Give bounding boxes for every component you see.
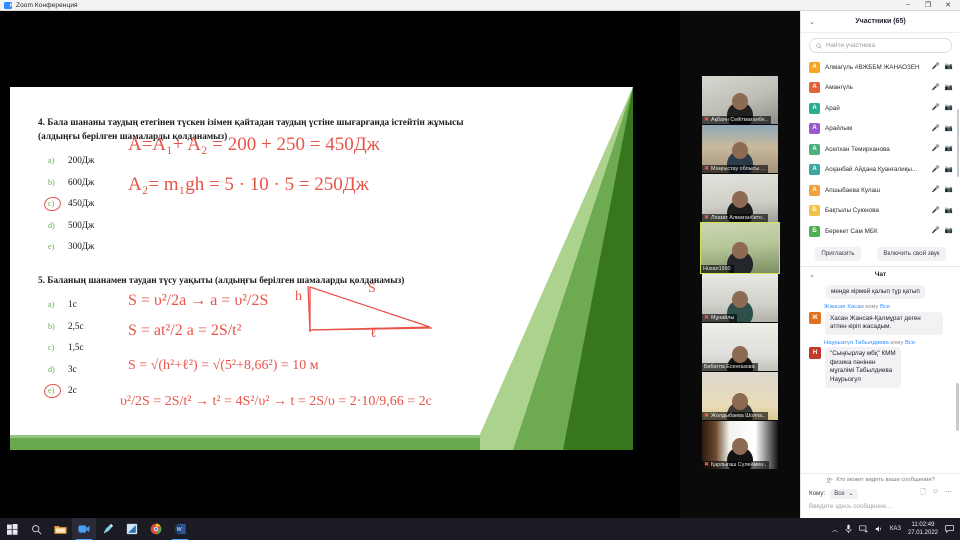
chat-to-label: Кому: — [809, 490, 825, 497]
chat-input[interactable]: Введите здесь сообщение... — [801, 501, 960, 518]
video-tile-label: Husan1990 — [701, 265, 734, 274]
participant-row[interactable]: А Апшыбаева Кулаш 🎤📷 — [801, 180, 960, 201]
participant-name: Апшыбаева Кулаш — [825, 187, 927, 194]
window-title: Zoom Конференция — [16, 2, 78, 9]
window-controls: − ❐ ✕ — [898, 0, 960, 11]
participant-row[interactable]: А Арайлым 🎤📷 — [801, 119, 960, 140]
video-tile[interactable]: ✖Ләззат Алмағанбето.. — [702, 174, 778, 222]
video-off-icon[interactable]: 📷 — [945, 105, 953, 112]
question-5-title: 5. Баланың шанамен таудан түсу уақыты (а… — [38, 275, 478, 289]
participant-name: Арайлым — [825, 125, 927, 132]
to-target: Все — [905, 340, 915, 346]
participant-name: Аселхан Темирханова — [825, 146, 927, 153]
emoji-icon[interactable]: ☺ — [932, 488, 939, 499]
option-text: 600Дж — [68, 172, 94, 194]
chat-message: менде кірмей қалып тұр қатып — [826, 285, 952, 300]
video-tile-label: ✖Мұнайлы — [702, 314, 737, 323]
svg-text:W: W — [176, 527, 181, 533]
video-tile-label: ✖Қарлығаш Сүлеймен.. — [702, 461, 769, 470]
mic-off-icon[interactable]: 🎤 — [932, 146, 940, 153]
slide-band — [10, 438, 480, 450]
avatar: А — [809, 82, 820, 93]
video-off-icon[interactable]: 📷 — [945, 85, 953, 92]
search-icon — [31, 524, 42, 535]
mic-off-icon[interactable]: 🎤 — [932, 187, 940, 194]
chat-scrollbar[interactable] — [956, 383, 959, 431]
chevron-down-icon[interactable]: ⌄ — [809, 271, 815, 279]
video-tile[interactable]: ✖Қарлығаш Сүлеймен.. — [702, 421, 778, 469]
chrome-icon — [150, 523, 162, 535]
avatar: Б — [809, 226, 820, 237]
network-icon[interactable] — [859, 525, 868, 533]
mic-off-icon[interactable]: 🎤 — [932, 228, 940, 235]
sketch-icon — [126, 523, 138, 535]
video-tile[interactable]: ✖Маңғыстау облысы ... — [702, 125, 778, 173]
video-off-icon[interactable]: 📷 — [945, 208, 953, 215]
sender-name: Наурызгүл Табылдиева — [824, 340, 889, 346]
sketch-app-button[interactable] — [120, 518, 144, 540]
option-a[interactable]: a)200Дж — [48, 150, 478, 172]
search-input[interactable]: Найти участника — [809, 38, 952, 53]
video-tile-label: ✖Маңғыстау облысы ... — [702, 165, 768, 174]
option-letter: b) — [48, 172, 68, 194]
option-letter: a) — [48, 150, 68, 172]
participant-name: Арай — [825, 105, 927, 112]
participant-name: Бибатпа Есенғазова — [704, 364, 755, 370]
participants-panel-header[interactable]: ⌄ Участники (65) — [801, 11, 960, 33]
maximize-button[interactable]: ❐ — [918, 0, 938, 11]
search-button[interactable] — [24, 518, 48, 540]
participant-row[interactable]: Б Берекет Сам МБК 🎤📷 — [801, 221, 960, 242]
avatar: А — [809, 123, 820, 134]
sender-name: Жансая Хасан — [824, 304, 864, 310]
zoom-app-button[interactable] — [72, 518, 96, 540]
chat-recipient-select[interactable]: Все ⌄ — [830, 489, 857, 499]
participant-name: Ләззат Алмағанбето.. — [711, 215, 765, 221]
option-letter: e) — [48, 380, 68, 402]
mic-off-icon[interactable]: 🎤 — [932, 85, 940, 92]
system-tray: ︿ КАЗ 11:02:49 27.01.2022 — [832, 521, 960, 537]
unmute-button[interactable]: Включить свой звук — [877, 247, 945, 261]
video-tile-label: ✖Ләззат Алмағанбето.. — [702, 214, 768, 223]
slide-content: 4. Бала шананы таудың етегінен түскен із… — [38, 117, 478, 402]
invite-button[interactable]: Пригласить — [815, 247, 860, 261]
video-off-icon[interactable]: 📷 — [945, 146, 953, 153]
clock-date: 27.01.2022 — [908, 529, 938, 537]
participants-title: Участники (65) — [855, 18, 905, 25]
shared-screen-slide[interactable]: 4. Бала шананы таудың етегінен түскен із… — [10, 87, 633, 450]
option-a[interactable]: a)1с — [48, 294, 478, 316]
mic-icon[interactable] — [845, 524, 852, 534]
participant-name: Ақбаян Сейітмағанбе.. — [711, 117, 768, 123]
participant-row[interactable]: А Алмагүль #ВЖББМ ЖАНАОЗЕН 🎤📷 — [801, 57, 960, 78]
participant-name: Husan1990 — [703, 266, 731, 272]
question-5-options: a)1с b)2,5с c)1,5с d)3с e)2с — [48, 294, 478, 402]
windows-taskbar: W ︿ КАЗ 11:02:49 27.01.2022 — [0, 518, 960, 540]
option-letter: a) — [48, 294, 68, 316]
notification-icon[interactable] — [945, 525, 954, 533]
search-placeholder: Найти участника — [826, 42, 875, 49]
mic-off-icon: ✖ — [704, 413, 709, 419]
chat-message-sender: Наурызгүл Табылдиева кому Все — [824, 340, 952, 346]
folder-icon — [54, 524, 67, 535]
chat-panel-header[interactable]: ⌄ Чат — [801, 267, 960, 283]
option-b[interactable]: b)2,5с — [48, 316, 478, 338]
chrome-browser-button[interactable] — [144, 518, 168, 540]
people-icon — [826, 477, 833, 484]
word-app-button[interactable]: W — [168, 518, 192, 540]
chat-message: Ж Хасан Жансая-Қалмұрат деген атпен кірі… — [809, 312, 952, 335]
participant-name: Қарлығаш Сүлеймен.. — [711, 462, 766, 468]
window-titlebar: Zoom Конференция − ❐ ✕ — [0, 0, 960, 11]
option-letter: d) — [48, 215, 68, 237]
participant-name: Берекет Сам МБК — [825, 228, 927, 235]
option-letter: c) — [48, 337, 68, 359]
to-label: кому — [890, 340, 903, 346]
mic-off-icon[interactable]: 🎤 — [932, 208, 940, 215]
clock-time: 11:02:49 — [908, 521, 938, 529]
participant-name: Мұнайлы — [711, 315, 734, 321]
volume-icon[interactable] — [875, 525, 883, 533]
option-b[interactable]: b)600Дж — [48, 172, 478, 194]
video-tile[interactable]: ✖Ақбаян Сейітмағанбе.. — [702, 76, 778, 124]
participant-row[interactable]: А Асқанбай Айдана Қуанғалиқы... 🎤📷 — [801, 160, 960, 181]
file-explorer-button[interactable] — [48, 518, 72, 540]
participants-list[interactable]: А Алмагүль #ВЖББМ ЖАНАОЗЕН 🎤📷 А Амангүль… — [801, 57, 960, 242]
participant-video-filmstrip: ✖Ақбаян Сейітмағанбе.. ✖Маңғыстау облысы… — [680, 11, 800, 518]
chat-privacy-text: Кто может видеть ваши сообщения? — [836, 477, 934, 483]
participant-row[interactable]: А Амангүль 🎤📷 — [801, 78, 960, 99]
option-text: 2,5с — [68, 316, 84, 338]
option-text: 2с — [68, 380, 77, 402]
chat-message-group: Наурызгүл Табылдиева кому Все Н "Сыңғырл… — [809, 340, 952, 388]
paint-3d-app-button[interactable] — [96, 518, 120, 540]
chat-input-placeholder: Введите здесь сообщение... — [809, 503, 891, 510]
option-d[interactable]: d)3с — [48, 359, 478, 381]
avatar: А — [809, 185, 820, 196]
participant-row[interactable]: А Арай 🎤📷 — [801, 98, 960, 119]
mic-off-icon: ✖ — [704, 462, 709, 468]
participant-name: Жолдыбаева Шолпа.. — [711, 413, 765, 419]
option-text: 1с — [68, 294, 77, 316]
to-target: Все — [880, 304, 890, 310]
option-text: 450Дж — [68, 193, 94, 215]
avatar: Б — [809, 205, 820, 216]
video-off-icon[interactable]: 📷 — [945, 187, 953, 194]
option-e[interactable]: e)2с — [48, 380, 478, 402]
search-icon — [816, 43, 822, 49]
option-letter: d) — [48, 359, 68, 381]
participant-search-wrap: Найти участника — [801, 33, 960, 57]
avatar: Н — [809, 347, 821, 359]
mic-off-icon[interactable]: 🎤 — [932, 167, 940, 174]
video-tile-label: Бибатпа Есенғазова — [702, 363, 758, 372]
option-text: 200Дж — [68, 150, 94, 172]
slide-decoration — [465, 87, 633, 450]
participant-row[interactable]: А Аселхан Темирханова 🎤📷 — [801, 139, 960, 160]
video-tile[interactable]: ✖Мұнайлы — [702, 274, 778, 322]
option-text: 3с — [68, 359, 77, 381]
participants-actions: Пригласить Включить свой звук — [801, 242, 960, 267]
file-icon[interactable]: 🗋 — [920, 488, 926, 499]
avatar: Ж — [809, 312, 821, 324]
chat-title: Чат — [875, 271, 887, 278]
option-d[interactable]: d)500Дж — [48, 215, 478, 237]
video-tile[interactable]: Бибатпа Есенғазова — [702, 323, 778, 371]
participant-name: Алмагүль #ВЖББМ ЖАНАОЗЕН — [825, 64, 927, 71]
chat-recipient-row: Кому: Все ⌄ 🗋 ☺ ⋯ — [801, 486, 960, 501]
option-letter: c) — [48, 193, 68, 215]
avatar: А — [809, 144, 820, 155]
question-4-options: a)200Дж b)600Дж c)450Дж d)500Дж e)300Дж — [48, 150, 478, 258]
mic-off-icon: ✖ — [704, 166, 709, 172]
chat-message-sender: Жансая Хасан кому Все — [824, 304, 952, 310]
participant-row[interactable]: Б Бақтылы Суюнова 🎤📷 — [801, 201, 960, 222]
option-letter: e) — [48, 236, 68, 258]
chevron-down-icon[interactable]: ⌄ — [809, 18, 815, 26]
option-e[interactable]: e)300Дж — [48, 236, 478, 258]
participant-name: Бақтылы Суюнова — [825, 207, 927, 214]
mic-off-icon: ✖ — [704, 315, 709, 321]
video-tile[interactable]: ✖Жолдыбаева Шолпа.. — [702, 372, 778, 420]
chat-messages[interactable]: менде кірмей қалып тұр қатып Жансая Хаса… — [801, 283, 960, 474]
mic-off-icon: ✖ — [704, 215, 709, 221]
chat-message-text: менде кірмей қалып тұр қатып — [826, 285, 925, 300]
more-icon[interactable]: ⋯ — [945, 488, 952, 499]
option-text: 300Дж — [68, 236, 94, 258]
mic-off-icon: ✖ — [704, 117, 709, 123]
video-tile-active[interactable]: Husan1990 — [701, 223, 779, 273]
clock[interactable]: 11:02:49 27.01.2022 — [908, 521, 938, 537]
mic-off-icon[interactable]: 🎤 — [932, 105, 940, 112]
mic-off-icon[interactable]: 🎤 — [932, 64, 940, 71]
video-off-icon[interactable]: 📷 — [945, 126, 953, 133]
word-icon: W — [175, 523, 186, 535]
side-panel: ⌄ Участники (65) Найти участника А Алмаг… — [800, 11, 960, 518]
participant-name: Асқанбай Айдана Қуанғалиқы... — [825, 166, 927, 173]
option-text: 500Дж — [68, 215, 94, 237]
participant-name: Амангүль — [825, 84, 927, 91]
video-tile-label: ✖Жолдыбаева Шолпа.. — [702, 412, 768, 421]
chevron-down-icon: ⌄ — [849, 490, 854, 497]
meeting-stage: 4. Бала шананы таудың етегінен түскен із… — [0, 11, 800, 518]
minimize-button[interactable]: − — [898, 0, 918, 11]
chat-message: Н "Сыңғырлау мбқ" КММ физика пәнінен мұғ… — [809, 347, 952, 387]
option-c[interactable]: c)1,5с — [48, 337, 478, 359]
language-indicator[interactable]: КАЗ — [890, 526, 901, 532]
participants-scrollbar[interactable] — [957, 109, 960, 177]
option-letter: b) — [48, 316, 68, 338]
windows-icon — [7, 524, 18, 535]
video-off-icon[interactable]: 📷 — [945, 167, 953, 174]
zoom-icon — [78, 524, 90, 534]
participant-name: Маңғыстау облысы ... — [711, 166, 765, 172]
option-c[interactable]: c)450Дж — [48, 193, 478, 215]
chat-message-group: Жансая Хасан кому Все Ж Хасан Жансая-Қал… — [809, 304, 952, 335]
chat-privacy-note[interactable]: Кто может видеть ваши сообщения? — [801, 473, 960, 486]
avatar: А — [809, 164, 820, 175]
video-tile-label: ✖Ақбаян Сейітмағанбе.. — [702, 116, 771, 125]
chat-message-text: "Сыңғырлау мбқ" КММ физика пәнінен мұғал… — [825, 347, 901, 387]
zoom-meeting-window: Zoom Конференция − ❐ ✕ 4. Бала шананы та… — [0, 0, 960, 540]
video-off-icon[interactable]: 📷 — [945, 64, 953, 71]
mic-off-icon[interactable]: 🎤 — [932, 126, 940, 133]
chat-message-text: Хасан Жансая-Қалмұрат деген атпен кіріп … — [825, 312, 943, 335]
zoom-icon — [4, 2, 12, 9]
to-label: кому — [865, 304, 878, 310]
start-button[interactable] — [0, 518, 24, 540]
avatar: А — [809, 103, 820, 114]
question-4-title: 4. Бала шананы таудың етегінен түскен із… — [38, 117, 478, 144]
video-off-icon[interactable]: 📷 — [945, 228, 953, 235]
option-text: 1,5с — [68, 337, 84, 359]
chat-recipient-value: Все — [834, 491, 844, 497]
paint-icon — [102, 523, 114, 535]
avatar: А — [809, 62, 820, 73]
close-button[interactable]: ✕ — [938, 0, 958, 11]
tray-expand-button[interactable]: ︿ — [832, 525, 838, 534]
